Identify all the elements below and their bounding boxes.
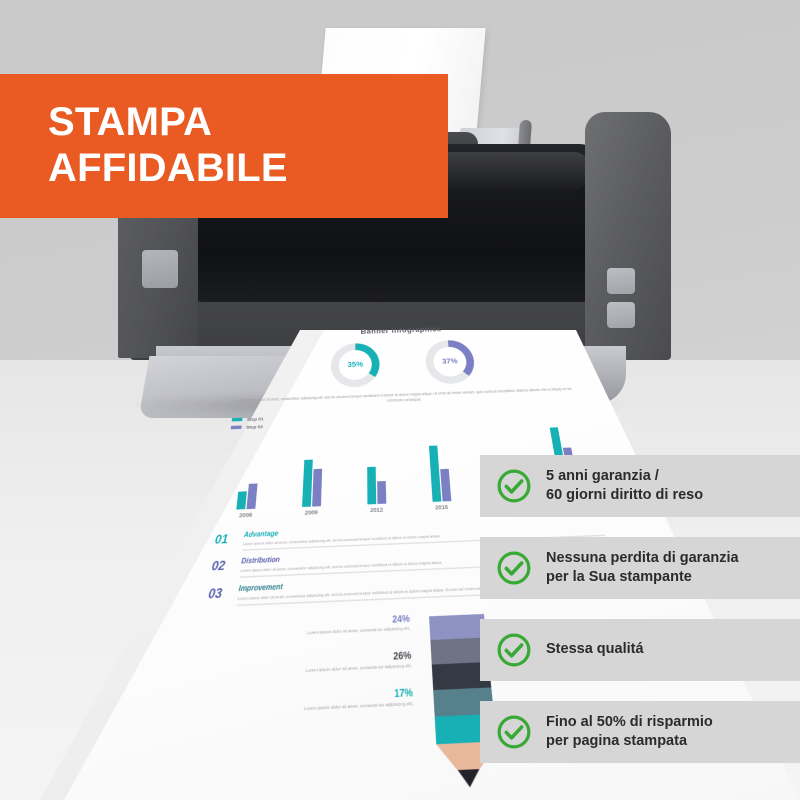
check-circle-icon: [496, 632, 532, 668]
page-title: STAMPA AFFIDABILE: [48, 100, 448, 191]
feature-list: 5 anni garanzia / 60 giorni diritto di r…: [480, 455, 800, 783]
step-number: 02: [211, 558, 234, 573]
feature-line-1: Nessuna perdita di garanzia: [546, 549, 739, 568]
bar-step-02-2015: [440, 469, 451, 502]
feature-line-1: 5 anni garanzia /: [546, 467, 703, 486]
legend-label-step-01: Step 01: [247, 416, 264, 422]
legend-label-step-02: Step 02: [246, 424, 263, 430]
feature-item-savings[interactable]: Fino al 50% di risparmio per pagina stam…: [480, 701, 800, 763]
feature-text: Fino al 50% di risparmio per pagina stam…: [546, 713, 713, 751]
donut-chart-2: 37%: [424, 339, 476, 384]
feature-text: 5 anni garanzia / 60 giorni diritto di r…: [546, 467, 703, 505]
bar-step-01-2009: [301, 459, 312, 506]
step-number: 01: [214, 532, 236, 546]
printer-right-button-2: [607, 302, 635, 328]
check-circle-icon: [496, 550, 532, 586]
donut-label-1: 35%: [348, 361, 364, 368]
feature-line-2: per la Sua stampante: [546, 568, 739, 587]
bar-step-02-2006: [246, 483, 257, 509]
check-circle-icon: [496, 468, 532, 504]
pencil-lead: [458, 770, 481, 789]
feature-text: Nessuna perdita di garanzia per la Sua s…: [546, 549, 739, 587]
donut-label-2: 37%: [442, 358, 458, 365]
bar-step-01-2006: [236, 491, 247, 509]
poster-canvas: Banner Infographics 35% 37% Lorem ipsum …: [0, 0, 800, 800]
donut-chart-group: 35% 37%: [217, 336, 588, 392]
headline-line-1: STAMPA: [48, 100, 212, 144]
feature-line-2: per pagina stampata: [546, 732, 713, 751]
feature-item-warranty[interactable]: 5 anni garanzia / 60 giorni diritto di r…: [480, 455, 800, 517]
bar-group: [214, 483, 279, 511]
x-tick-label: 2006: [212, 510, 278, 519]
legend-swatch-step-02: [231, 425, 242, 429]
donut-chart-1: 35%: [330, 343, 380, 388]
feature-line-1: Stessa qualitá: [546, 640, 644, 659]
headline-line-2: AFFIDABILE: [48, 146, 288, 190]
bar-group: [279, 458, 343, 507]
bar-step-01-2012: [367, 467, 376, 505]
x-tick-label: 2015: [409, 503, 474, 512]
x-tick-label: 2012: [344, 505, 409, 514]
feature-text: Stessa qualitá: [546, 640, 644, 659]
bar-group: [408, 444, 473, 502]
feature-line-1: Fino al 50% di risparmio: [546, 713, 713, 732]
feature-item-same-quality[interactable]: Stessa qualitá: [480, 619, 800, 681]
pencil-band-1: [429, 615, 486, 641]
funnel-item: 26% Lorem ipsum dolor sit amet, consecte…: [184, 651, 412, 680]
bar-step-02-2012: [377, 481, 386, 504]
check-circle-icon: [496, 714, 532, 750]
legend-swatch-step-01: [232, 417, 243, 421]
funnel-item: 17% Lorem ipsum dolor sit amet, consecte…: [178, 688, 413, 719]
funnel-labels: 24% Lorem ipsum dolor sit amet, consecte…: [176, 615, 415, 740]
bar-group: [345, 465, 408, 505]
bar-step-01-2015: [428, 445, 440, 501]
printer-right-button-1: [607, 268, 635, 294]
x-tick-label: 2009: [278, 508, 344, 517]
headline-banner: STAMPA AFFIDABILE: [0, 74, 448, 218]
printer-left-button: [142, 250, 178, 288]
feature-item-no-warranty-loss[interactable]: Nessuna perdita di garanzia per la Sua s…: [480, 537, 800, 599]
bar-step-02-2009: [311, 469, 321, 507]
funnel-item: 24% Lorem ipsum dolor sit amet, consecte…: [189, 615, 411, 643]
feature-line-2: 60 giorni diritto di reso: [546, 486, 703, 505]
step-number: 03: [208, 586, 231, 602]
